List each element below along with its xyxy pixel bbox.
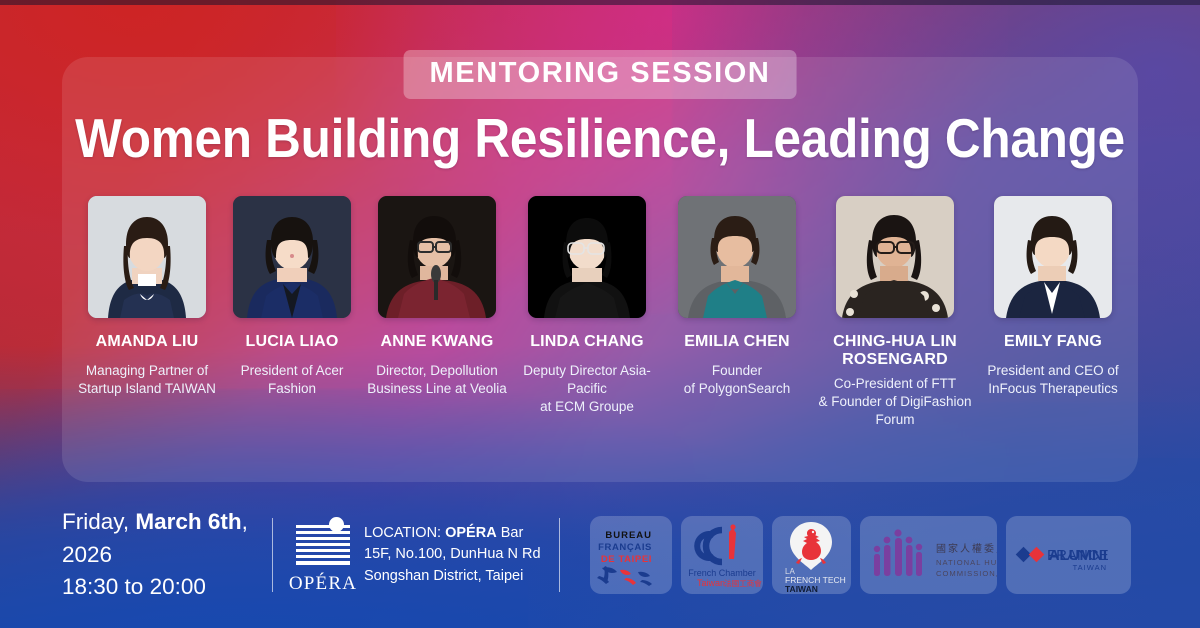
event-time: 18:30 to 20:00 bbox=[62, 571, 272, 604]
svg-text:法國工商會: 法國工商會 bbox=[724, 578, 762, 588]
event-date: Friday, March 6th, 2026 bbox=[62, 506, 272, 571]
venue-line-2: 15F, No.100, DunHua N Rd bbox=[364, 544, 541, 565]
speaker-name: AMANDA LIU bbox=[96, 333, 199, 351]
svg-text:FRANÇAIS: FRANÇAIS bbox=[598, 542, 652, 553]
speaker-card-anne-kwang: ANNE KWANG Director, Depollution Busines… bbox=[366, 196, 508, 398]
speaker-name: EMILY FANG bbox=[1004, 333, 1102, 351]
opera-mark-icon bbox=[296, 516, 350, 568]
speaker-role: Co-President of FTT & Founder of DigiFas… bbox=[818, 375, 971, 428]
svg-text:ALUMNI: ALUMNI bbox=[1048, 547, 1106, 564]
footer-divider-right bbox=[559, 518, 560, 592]
venue-location-label: LOCATION: bbox=[364, 525, 445, 541]
speaker-card-linda-chang: LINDA CHANG Deputy Director Asia-Pacific… bbox=[511, 196, 663, 416]
svg-text:TAIWAN: TAIWAN bbox=[785, 584, 818, 594]
sponsor-logo-cci-french-chamber-taiwan: French Chamber Taiwan 法國工商會 bbox=[681, 516, 763, 594]
venue-address: LOCATION: OPÉRA Bar 15F, No.100, DunHua … bbox=[364, 523, 541, 586]
speaker-role: Deputy Director Asia-Pacific at ECM Grou… bbox=[511, 362, 663, 415]
portrait-emilia-chen bbox=[678, 196, 796, 318]
portrait-ching-hua-lin-rosengard bbox=[836, 196, 954, 318]
sponsor-logo-bureau-francais-de-taipei: BUREAU FRANÇAIS DE TAIPEI bbox=[590, 516, 672, 594]
page-title: Women Building Resilience, Leading Chang… bbox=[60, 108, 1140, 170]
sponsor-logos: BUREAU FRANÇAIS DE TAIPEI bbox=[590, 516, 1131, 594]
event-date-main: March 6th bbox=[135, 509, 241, 534]
session-badge: MENTORING SESSION bbox=[404, 50, 797, 99]
top-edge-shade bbox=[0, 0, 1200, 5]
svg-text:BUREAU: BUREAU bbox=[605, 530, 652, 541]
venue-block: OPÉRA LOCATION: OPÉRA Bar 15F, No.100, D… bbox=[273, 516, 541, 595]
svg-text:DE TAIPEI: DE TAIPEI bbox=[600, 554, 651, 565]
portrait-linda-chang bbox=[528, 196, 646, 318]
speakers-row: AMANDA LIU Managing Partner of Startup I… bbox=[62, 196, 1138, 429]
speaker-name: ANNE KWANG bbox=[380, 333, 493, 351]
speaker-role: Managing Partner of Startup Island TAIWA… bbox=[78, 362, 216, 398]
speaker-role: President and CEO of InFocus Therapeutic… bbox=[987, 362, 1118, 398]
venue-line-1: LOCATION: OPÉRA Bar bbox=[364, 523, 541, 544]
speaker-name: LINDA CHANG bbox=[530, 333, 644, 351]
event-date-weekday: Friday, bbox=[62, 509, 135, 534]
venue-name: OPÉRA bbox=[445, 525, 497, 541]
speaker-card-amanda-liu: AMANDA LIU Managing Partner of Startup I… bbox=[76, 196, 218, 398]
svg-text:NATIONAL HUMAN RIGHTS: NATIONAL HUMAN RIGHTS bbox=[936, 558, 997, 567]
speaker-name: LUCIA LIAO bbox=[246, 333, 339, 351]
opera-logo: OPÉRA bbox=[295, 516, 351, 595]
speaker-role: President of Acer Fashion bbox=[221, 362, 363, 398]
svg-text:COMMISSION, TAIWAN: COMMISSION, TAIWAN bbox=[936, 569, 997, 578]
speaker-role: Founder of PolygonSearch bbox=[684, 362, 791, 398]
poster-canvas: MENTORING SESSION Women Building Resilie… bbox=[0, 0, 1200, 628]
opera-wordmark: OPÉRA bbox=[289, 573, 357, 595]
speaker-name: CHING-HUA LIN ROSENGARD bbox=[833, 333, 957, 369]
speaker-card-ching-hua-lin-rosengard: CHING-HUA LIN ROSENGARD Co-President of … bbox=[811, 196, 979, 429]
speaker-role: Director, Depollution Business Line at V… bbox=[367, 362, 507, 398]
speaker-name: EMILIA CHEN bbox=[684, 333, 790, 351]
svg-text:國家人權委員會: 國家人權委員會 bbox=[936, 542, 997, 555]
sponsor-logo-national-human-rights-commission-taiwan: 國家人權委員會 NATIONAL HUMAN RIGHTS COMMISSION… bbox=[860, 516, 997, 594]
portrait-emily-fang bbox=[994, 196, 1112, 318]
speaker-card-lucia-liao: LUCIA LIAO President of Acer Fashion bbox=[221, 196, 363, 398]
speaker-card-emilia-chen: EMILIA CHEN Founder of PolygonSearch bbox=[666, 196, 808, 398]
svg-text:Taiwan: Taiwan bbox=[697, 578, 725, 588]
portrait-anne-kwang bbox=[378, 196, 496, 318]
venue-name-suffix: Bar bbox=[497, 525, 524, 541]
portrait-amanda-liu bbox=[88, 196, 206, 318]
event-datetime: Friday, March 6th, 2026 18:30 to 20:00 bbox=[0, 506, 272, 604]
speaker-card-emily-fang: EMILY FANG President and CEO of InFocus … bbox=[982, 196, 1124, 398]
venue-line-3: Songshan District, Taipei bbox=[364, 566, 541, 587]
portrait-lucia-liao bbox=[233, 196, 351, 318]
svg-text:French Chamber: French Chamber bbox=[688, 568, 756, 578]
sponsor-logo-la-french-tech-taiwan: LA FRENCH TECH TAIWAN bbox=[772, 516, 851, 594]
footer-bar: Friday, March 6th, 2026 18:30 to 20:00 O… bbox=[0, 482, 1200, 628]
svg-text:TAIWAN: TAIWAN bbox=[1072, 563, 1106, 572]
sponsor-logo-france-alumni-taiwan: FRANCE ALUMNI TAIWAN bbox=[1006, 516, 1131, 594]
